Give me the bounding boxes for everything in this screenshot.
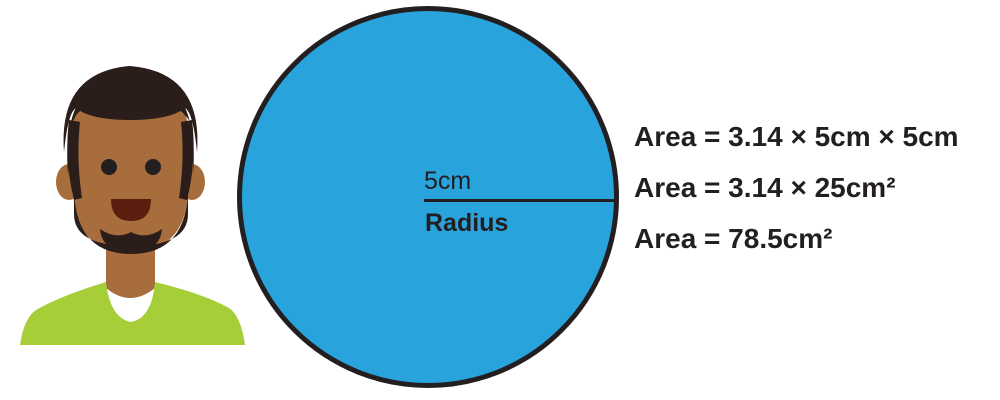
equation-line-2: Area = 3.14 × 25cm² bbox=[634, 174, 1000, 202]
eye-left bbox=[101, 159, 117, 175]
avatar bbox=[0, 0, 270, 400]
face bbox=[73, 100, 188, 252]
radius-line bbox=[424, 199, 617, 202]
circle-shape bbox=[237, 6, 619, 388]
radius-name-label: Radius bbox=[425, 211, 508, 236]
radius-length-label: 5cm bbox=[424, 169, 471, 194]
illustration-canvas: 5cm Radius Area = 3.14 × 5cm × 5cm Area … bbox=[0, 0, 1000, 400]
eye-right bbox=[145, 159, 161, 175]
equation-line-3: Area = 78.5cm² bbox=[634, 225, 1000, 253]
equation-list: Area = 3.14 × 5cm × 5cm Area = 3.14 × 25… bbox=[634, 123, 1000, 253]
circle-figure: 5cm Radius bbox=[237, 6, 619, 388]
equation-line-1: Area = 3.14 × 5cm × 5cm bbox=[634, 123, 1000, 151]
